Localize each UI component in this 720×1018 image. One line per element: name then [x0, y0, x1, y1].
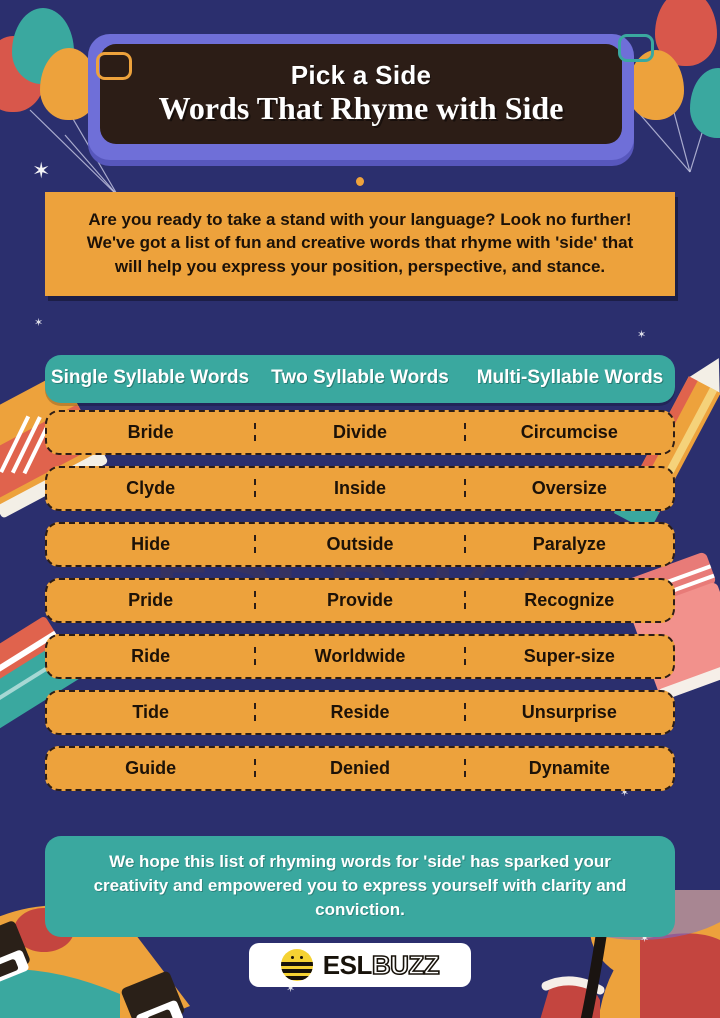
bee-icon	[281, 949, 313, 981]
title-board: Pick a Side Words That Rhyme with Side	[100, 44, 622, 144]
table-column-header-1: Single Syllable Words	[45, 367, 255, 390]
table-cell: Outside	[256, 535, 465, 553]
paperclip-icon-left	[96, 52, 132, 80]
table-cell: Hide	[47, 535, 256, 553]
table-cell: Inside	[256, 479, 465, 497]
table-cell: Recognize	[466, 591, 673, 609]
table-row: Pride Provide Recognize	[45, 578, 675, 623]
table-cell: Circumcise	[466, 423, 673, 441]
rhyme-table: Single Syllable Words Two Syllable Words…	[45, 355, 675, 802]
balloon-red-topleft	[0, 36, 44, 112]
table-cell: Guide	[47, 759, 256, 777]
sparkle-icon-right-upper: ✶	[637, 330, 646, 341]
table-cell: Paralyze	[466, 535, 673, 553]
table-cell: Denied	[256, 759, 465, 777]
paperclip-icon-right	[618, 34, 654, 62]
table-cell: Dynamite	[466, 759, 673, 777]
table-column-header-2: Two Syllable Words	[255, 367, 465, 390]
sparkle-icon-topleft: ✶	[32, 160, 50, 182]
intro-panel: Are you ready to take a stand with your …	[45, 192, 675, 296]
table-row: Hide Outside Paralyze	[45, 522, 675, 567]
table-cell: Divide	[256, 423, 465, 441]
table-row: Ride Worldwide Super-size	[45, 634, 675, 679]
table-row: Bride Divide Circumcise	[45, 410, 675, 455]
sparkle-icon-left-mid: ✶	[34, 318, 43, 329]
table-cell: Provide	[256, 591, 465, 609]
table-row: Tide Reside Unsurprise	[45, 690, 675, 735]
table-body: Bride Divide Circumcise Clyde Inside Ove…	[45, 410, 675, 791]
table-cell: Pride	[47, 591, 256, 609]
table-row: Guide Denied Dynamite	[45, 746, 675, 791]
infographic-poster: ✶	[0, 0, 720, 1018]
balloon-teal-topleft	[12, 8, 74, 84]
table-cell: Bride	[47, 423, 256, 441]
table-cell: Ride	[47, 647, 256, 665]
table-cell: Worldwide	[256, 647, 465, 665]
table-cell: Tide	[47, 703, 256, 721]
table-cell: Unsurprise	[466, 703, 673, 721]
eslbuzz-logo: ESL BUZZ	[249, 943, 471, 987]
logo-primary-text: ESL	[323, 950, 372, 981]
table-cell: Clyde	[47, 479, 256, 497]
outro-panel: We hope this list of rhyming words for '…	[45, 836, 675, 937]
table-cell: Reside	[256, 703, 465, 721]
table-header-row: Single Syllable Words Two Syllable Words…	[45, 355, 675, 403]
logo-wordmark: ESL BUZZ	[323, 950, 439, 981]
page-title: Words That Rhyme with Side	[159, 91, 564, 126]
table-column-header-3: Multi-Syllable Words	[465, 367, 675, 390]
table-cell: Super-size	[466, 647, 673, 665]
page-subtitle: Pick a Side	[291, 62, 432, 89]
balloon-teal-topright	[690, 68, 720, 138]
balloon-red-topright	[655, 0, 717, 66]
divider-dot	[356, 177, 364, 186]
logo-secondary-text: BUZZ	[372, 950, 439, 981]
table-cell: Oversize	[466, 479, 673, 497]
table-row: Clyde Inside Oversize	[45, 466, 675, 511]
